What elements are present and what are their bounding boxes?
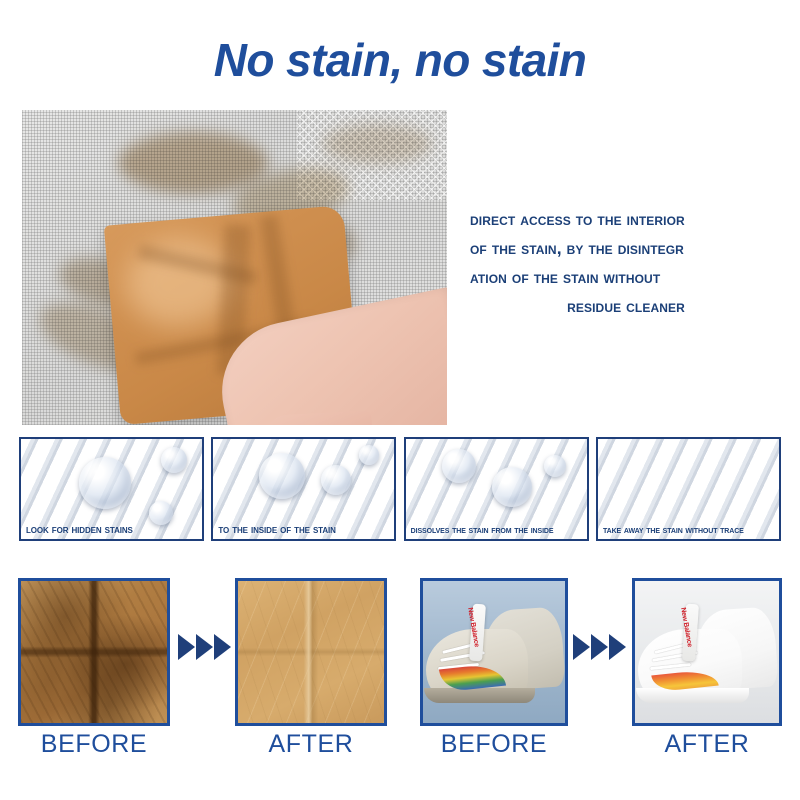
product-description: Direct access to the interior of the sta… <box>470 205 782 321</box>
panel-caption: Take away the stain without trace <box>598 525 779 536</box>
panel-caption: To the inside of the stain <box>213 524 394 536</box>
process-panel-3: Dissolves the stain from the inside <box>404 437 589 541</box>
page-title: No stain, no stain <box>0 33 800 87</box>
water-droplet <box>79 457 131 509</box>
sneaker-sole <box>636 688 748 704</box>
water-droplet <box>442 449 476 483</box>
water-droplet <box>161 447 187 473</box>
clean-fabric-texture <box>238 581 384 723</box>
hero-photo-stained-fabric <box>22 110 447 425</box>
description-line: residue cleaner <box>470 292 782 321</box>
chevron-right-icon <box>573 634 590 660</box>
chevron-right-icon <box>178 634 195 660</box>
water-droplet <box>492 467 532 507</box>
chevron-right-icon <box>609 634 626 660</box>
label-after-fabric: AFTER <box>235 730 387 759</box>
process-panel-4: Take away the stain without trace <box>596 437 781 541</box>
process-panel-1: Look for hidden stains <box>19 437 204 541</box>
sneaker-scene-clean: New Balance <box>635 581 779 723</box>
panel-caption: Look for hidden stains <box>21 524 202 536</box>
white-fabric-weave <box>598 439 779 539</box>
chevron-right-icon <box>196 634 213 660</box>
after-photo-fabric <box>235 578 387 726</box>
water-droplet <box>259 453 305 499</box>
after-photo-sneakers: New Balance <box>632 578 782 726</box>
before-photo-fabric <box>18 578 170 726</box>
thumb <box>261 410 374 425</box>
label-before-sneakers: BEFORE <box>420 730 568 759</box>
shoelace <box>650 662 692 669</box>
chevron-right-icon <box>214 634 231 660</box>
before-photo-sneakers: New Balance <box>420 578 568 726</box>
panel-caption: Dissolves the stain from the inside <box>406 525 587 536</box>
sneaker-sole <box>424 688 535 704</box>
description-line: of the stain, by the disintegr <box>470 234 782 263</box>
process-panel-2: To the inside of the stain <box>211 437 396 541</box>
water-droplet <box>149 501 173 525</box>
chevron-right-icon <box>591 634 608 660</box>
description-line: Direct access to the interior <box>470 205 782 234</box>
description-line: ation of the stain without <box>470 263 782 292</box>
label-after-sneakers: AFTER <box>632 730 782 759</box>
stain-spot <box>322 124 432 164</box>
label-before-fabric: BEFORE <box>18 730 170 759</box>
stained-fabric-texture <box>21 581 167 723</box>
stain-spot <box>118 132 268 194</box>
process-strip: Look for hidden stains To the inside of … <box>19 437 781 541</box>
cloth-fold <box>259 214 296 335</box>
transition-arrows-sneakers <box>573 634 626 660</box>
sneaker-scene-dirty: New Balance <box>423 581 565 723</box>
water-droplet <box>544 455 566 477</box>
transition-arrows-fabric <box>178 634 231 660</box>
